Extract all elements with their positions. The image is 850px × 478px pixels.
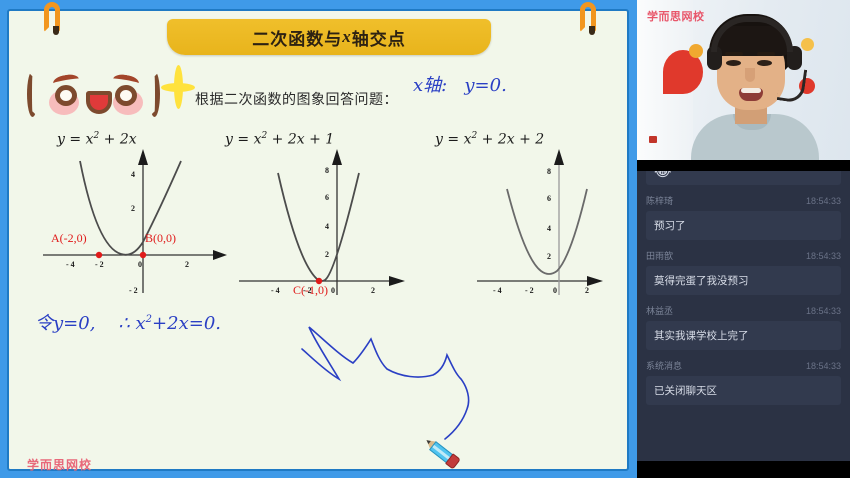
sidebar: 学而思网校 😂 陈梓琦 18:54:33 预习了 [637,0,850,478]
eq2-equals: = [237,132,249,148]
chat-message-bubble: 其实我课学校上完了 [646,321,841,350]
parabola-chart-2: y = x2 + 2x + 1 - 4 - 2 0 2 [231,131,431,301]
decor-small-red [649,136,657,143]
svg-text:2: 2 [131,204,135,213]
ink-solve-rest: +2x=0. [152,313,221,334]
whiteboard[interactable]: 二次函数与x轴交点 根据二次函数的图象回答问题： x轴: [7,9,629,471]
handwritten-note-solve: 令y=0, ∴ x2+2x=0. [35,309,221,335]
video-watermark: 学而思网校 [647,8,705,24]
chart-2-equation: y = x2 + 2x + 1 [225,131,334,148]
chat-message-bubble: 😂 [646,171,841,185]
presenter-left-brow [725,52,743,56]
ink-xaxis-value: y=0. [464,75,506,96]
svg-text:4: 4 [325,222,329,231]
eq1-equals: = [69,132,81,148]
chat-panel[interactable]: 😂 陈梓琦 18:54:33 预习了 田雨歆 18:54:33 莫得完蛋了我没预… [637,171,850,461]
svg-text:6: 6 [325,193,329,202]
svg-text:2: 2 [547,252,551,261]
binder-ring-left-tip [53,26,59,35]
chart-2-point-label-C: C(-1,0) [293,283,328,298]
kaomoji-decoration [23,63,191,125]
eq1-sup: 2 [93,131,99,141]
chart-2-plot: - 4 - 2 0 2 2 4 6 8 [231,147,431,299]
presenter-figure [695,14,815,160]
binder-ring-right-tip [589,26,595,35]
slide-title-italic-x: x [342,27,352,47]
chat-message: 陈梓琦 18:54:33 预习了 [637,194,850,240]
eq2-sup: 2 [261,131,267,141]
chat-message-bubble: 预习了 [646,211,841,240]
chart-1-plot: - 4 - 2 0 2 2 4 - 2 [35,147,235,299]
chart-1-point-label-A: A(-2,0) [51,231,87,246]
svg-text:2: 2 [185,260,189,269]
app-root: 二次函数与x轴交点 根据二次函数的图象回答问题： x轴: [0,0,850,478]
chat-timestamp: 18:54:33 [806,306,841,316]
kaomoji-left-eye [55,85,77,106]
chat-message-list: 😂 陈梓琦 18:54:33 预习了 田雨歆 18:54:33 莫得完蛋了我没预… [637,171,850,414]
chat-message-bubble: 莫得完蛋了我没预习 [646,266,841,295]
svg-text:- 2: - 2 [129,286,138,295]
svg-text:0: 0 [553,286,557,295]
kaomoji-right-paren [149,71,160,117]
chat-message: 林益丞 18:54:33 其实我课学校上完了 [637,304,850,350]
chat-timestamp: 18:54:33 [806,196,841,206]
chat-message-system: 系统消息 18:54:33 已关闭聊天区 [637,359,850,405]
microphone-boom-icon [777,66,807,103]
chat-sender-name: 田雨歆 [646,249,673,262]
kaomoji-left-paren [27,71,38,117]
svg-text:4: 4 [131,170,135,179]
binder-ring-right [580,2,596,36]
eq2-lhs: y [225,132,233,148]
chat-message-header: 林益丞 18:54:33 [646,304,841,317]
chat-message-header: 田雨歆 18:54:33 [646,249,841,262]
chart-1-equation: y = x2 + 2x [57,131,137,148]
svg-text:- 2: - 2 [95,260,104,269]
chat-message: 😂 [637,171,850,185]
presenter-left-eye [726,60,741,66]
chat-message-header: 系统消息 18:54:33 [646,359,841,372]
eq1-lhs: y [57,132,65,148]
chat-message-bubble: 已关闭聊天区 [646,376,841,405]
svg-text:- 2: - 2 [525,286,534,295]
eq3-sup: 2 [471,131,477,141]
slide-title-banner: 二次函数与x轴交点 [167,19,491,55]
handwritten-note-xaxis: x轴: y=0. [413,71,507,97]
binder-ring-left [44,2,60,36]
svg-text:0: 0 [138,260,142,269]
presenter-teeth [741,88,761,93]
teacher-video[interactable]: 学而思网校 [637,0,850,160]
kaomoji-mouth [86,91,112,114]
svg-text:- 4: - 4 [493,286,502,295]
chat-message: 田雨歆 18:54:33 莫得完蛋了我没预习 [637,249,850,295]
slide-title-after: 轴交点 [352,25,406,50]
svg-text:0: 0 [331,286,335,295]
chat-timestamp: 18:54:33 [806,361,841,371]
svg-text:- 4: - 4 [271,286,280,295]
board-watermark: 学而思网校 [27,456,92,473]
chart-3-plot: - 4 - 2 0 2 2 4 6 8 [429,147,629,299]
svg-text:- 4: - 4 [66,260,75,269]
chat-sender-name: 陈梓琦 [646,194,673,207]
svg-text:6: 6 [547,194,551,203]
presenter-nose [745,68,755,82]
presenter-right-eye [757,60,772,66]
ink-xaxis-label: x轴: [413,75,447,96]
ink-solve-base: x [136,313,146,334]
pencil-cursor [418,433,463,475]
svg-text:8: 8 [547,167,551,176]
ink-solve-therefore: ∴ [118,313,129,334]
eq3-equals: = [447,132,459,148]
parabola-chart-1: y = x2 + 2x - 4 - 2 [35,131,235,301]
ink-solve-lead: 令y=0, [35,313,95,334]
parabola-chart-3: y = x2 + 2x + 2 - 4 - 2 0 2 [429,131,629,301]
eq2-rest: + 2x + 1 [272,132,335,148]
chat-sender-name: 系统消息 [646,359,682,372]
svg-text:4: 4 [547,224,551,233]
chat-sender-name: 林益丞 [646,304,673,317]
chart-1-point-label-B: B(0,0) [145,231,176,246]
prompt-text: 根据二次函数的图象回答问题： [195,89,398,109]
slide-title-before: 二次函数与 [252,25,342,50]
sparkle-icon [161,65,195,109]
chat-timestamp: 18:54:33 [806,251,841,261]
svg-text:2: 2 [585,286,589,295]
svg-text:2: 2 [371,286,375,295]
svg-text:8: 8 [325,166,329,175]
eq3-lhs: y [435,132,443,148]
kaomoji-right-eye [115,85,137,106]
eq1-rest: + 2x [104,132,137,148]
whiteboard-area: 二次函数与x轴交点 根据二次函数的图象回答问题： x轴: [0,0,637,478]
presenter-right-brow [757,52,775,56]
eq3-rest: + 2x + 2 [482,132,545,148]
chat-bottom-bar [637,461,850,478]
chat-message-header: 陈梓琦 18:54:33 [646,194,841,207]
svg-text:2: 2 [325,250,329,259]
chart-3-equation: y = x2 + 2x + 2 [435,131,544,148]
video-chat-divider [637,160,850,171]
